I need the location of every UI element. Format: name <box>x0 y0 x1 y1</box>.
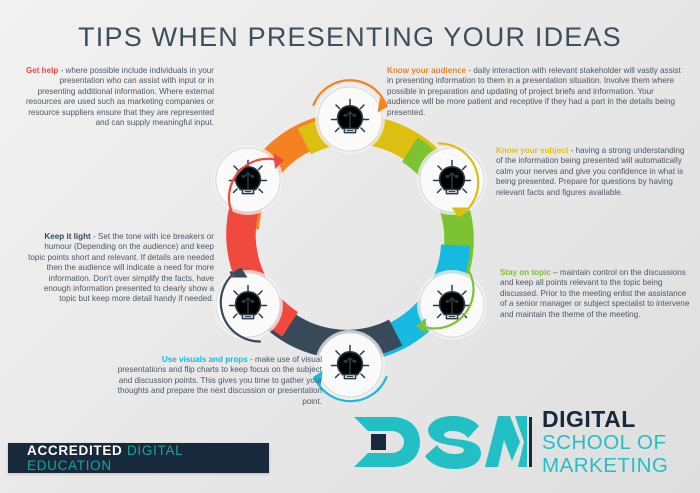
accredited-badge-text: ACCREDITED DIGITAL EDUCATION <box>8 443 269 473</box>
disc-yellow <box>417 145 487 215</box>
logo-line-marketing: MARKETING <box>542 456 668 477</box>
disc-green <box>417 270 487 340</box>
tip-use-visuals-and-props: Use visuals and props - make use of visu… <box>112 355 322 407</box>
tip-get-help-body: - where possible include individuals in … <box>26 66 214 127</box>
tip-know-your-audience-lead: Know your audience <box>387 66 466 75</box>
tip-stay-on-topic: Stay on topic – maintain control on the … <box>500 268 690 320</box>
accredited-badge: ACCREDITED DIGITAL EDUCATION <box>8 443 269 473</box>
tip-stay-on-topic-lead: Stay on topic <box>500 268 551 277</box>
logo-line-digital: DIGITAL <box>542 408 668 431</box>
infographic-canvas: TIPS WHEN PRESENTING YOUR IDEAS <box>0 0 700 493</box>
tip-get-help-lead: Get help <box>26 66 58 75</box>
logo-wordmark: DIGITAL SCHOOL OF MARKETING <box>542 408 668 476</box>
tip-use-visuals-and-props-lead: Use visuals and props <box>162 355 248 364</box>
dsm-logo-mark <box>352 411 527 473</box>
disc-cyan <box>315 330 385 400</box>
tip-keep-it-light-lead: Keep it light <box>44 232 90 241</box>
dsm-logo: DIGITAL SCHOOL OF MARKETING <box>352 406 682 478</box>
disc-orange <box>315 84 385 154</box>
page-title: TIPS WHEN PRESENTING YOUR IDEAS <box>0 22 700 53</box>
tip-keep-it-light: Keep it light - Set the tone with ice br… <box>26 232 214 305</box>
logo-line-school-of: SCHOOL OF <box>542 433 668 454</box>
tip-get-help: Get help - where possible include indivi… <box>22 66 214 128</box>
tip-know-your-subject: Know your subject - having a strong unde… <box>496 146 690 198</box>
tip-know-your-subject-lead: Know your subject <box>496 146 568 155</box>
disc-navy <box>213 270 283 340</box>
logo-divider <box>529 417 532 467</box>
tip-know-your-audience: Know your audience - daily interaction w… <box>387 66 687 118</box>
accredited-label: ACCREDITED <box>27 443 123 458</box>
tip-keep-it-light-body: - Set the tone with ice breakers or humo… <box>28 232 214 303</box>
disc-red <box>213 145 283 215</box>
